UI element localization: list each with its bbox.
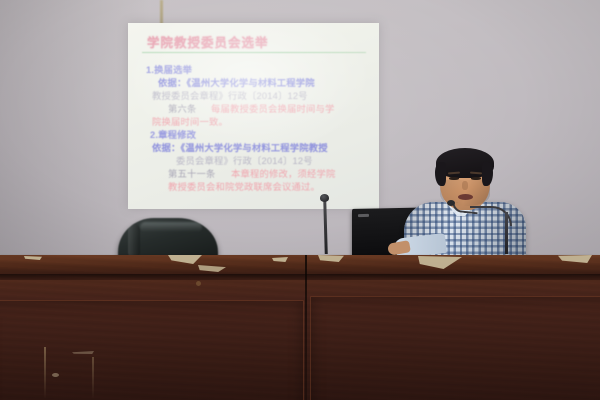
hair-right xyxy=(482,162,493,186)
mouth xyxy=(458,194,473,200)
photo-scene: 学院教授委员会选举 1.换届选举 依据：《温州大学化学与材料工程学院 教授委员会… xyxy=(0,0,600,400)
desk-microphone-head xyxy=(320,194,329,202)
speaker-microphone-stem xyxy=(505,212,508,254)
desk-knot xyxy=(196,281,201,286)
slide-line-1: 1.换届选举 xyxy=(146,62,192,76)
slide-line-9a: 第五十一条 xyxy=(168,166,216,180)
desk-seam xyxy=(305,255,307,400)
desk-scratch xyxy=(44,347,46,399)
chair-backrest-fold xyxy=(128,224,140,258)
chair-highlight xyxy=(140,222,202,232)
projection-screen: 学院教授委员会选举 1.换届选举 依据：《温州大学化学与材料工程学院 教授委员会… xyxy=(128,23,379,209)
eye-right xyxy=(471,177,481,180)
desk-scratch xyxy=(52,373,59,377)
slide-line-3: 教授委员会章程》行政〔2014〕12号 xyxy=(152,88,308,102)
slide-line-7: 依据：《温州大学化学与材料工程学院教授 xyxy=(152,140,328,154)
slide-line-8: 委员会章程》行政〔2014〕12号 xyxy=(176,153,313,167)
hair-left xyxy=(435,162,446,186)
eye-left xyxy=(449,177,459,180)
desk-scratch xyxy=(92,357,94,399)
slide-line-4a: 第六条 xyxy=(168,101,197,115)
slide-line-10: 教授委员会和院党政联席会议通过。 xyxy=(168,179,320,193)
speaker-microphone-head xyxy=(447,200,455,206)
slide-line-4b: 每届教授委员会换届时间与学 xyxy=(211,101,334,115)
slide-line-2: 依据：《温州大学化学与材料工程学院 xyxy=(158,75,315,89)
slide-title-divider xyxy=(142,52,366,53)
nose xyxy=(462,181,468,190)
wooden-desk xyxy=(0,255,600,400)
desk-panel-left xyxy=(0,300,304,400)
slide-line-6: 2.章程修改 xyxy=(150,127,196,141)
slide-content: 学院教授委员会选举 1.换届选举 依据：《温州大学化学与材料工程学院 教授委员会… xyxy=(128,23,379,209)
slide-line-9b: 本章程的修改，须经学院 xyxy=(231,166,335,180)
slide-line-5: 院换届时间一致。 xyxy=(152,114,228,128)
slide-title: 学院教授委员会选举 xyxy=(147,32,269,51)
desk-panel-right xyxy=(310,296,600,400)
laptop-logo xyxy=(358,214,369,217)
